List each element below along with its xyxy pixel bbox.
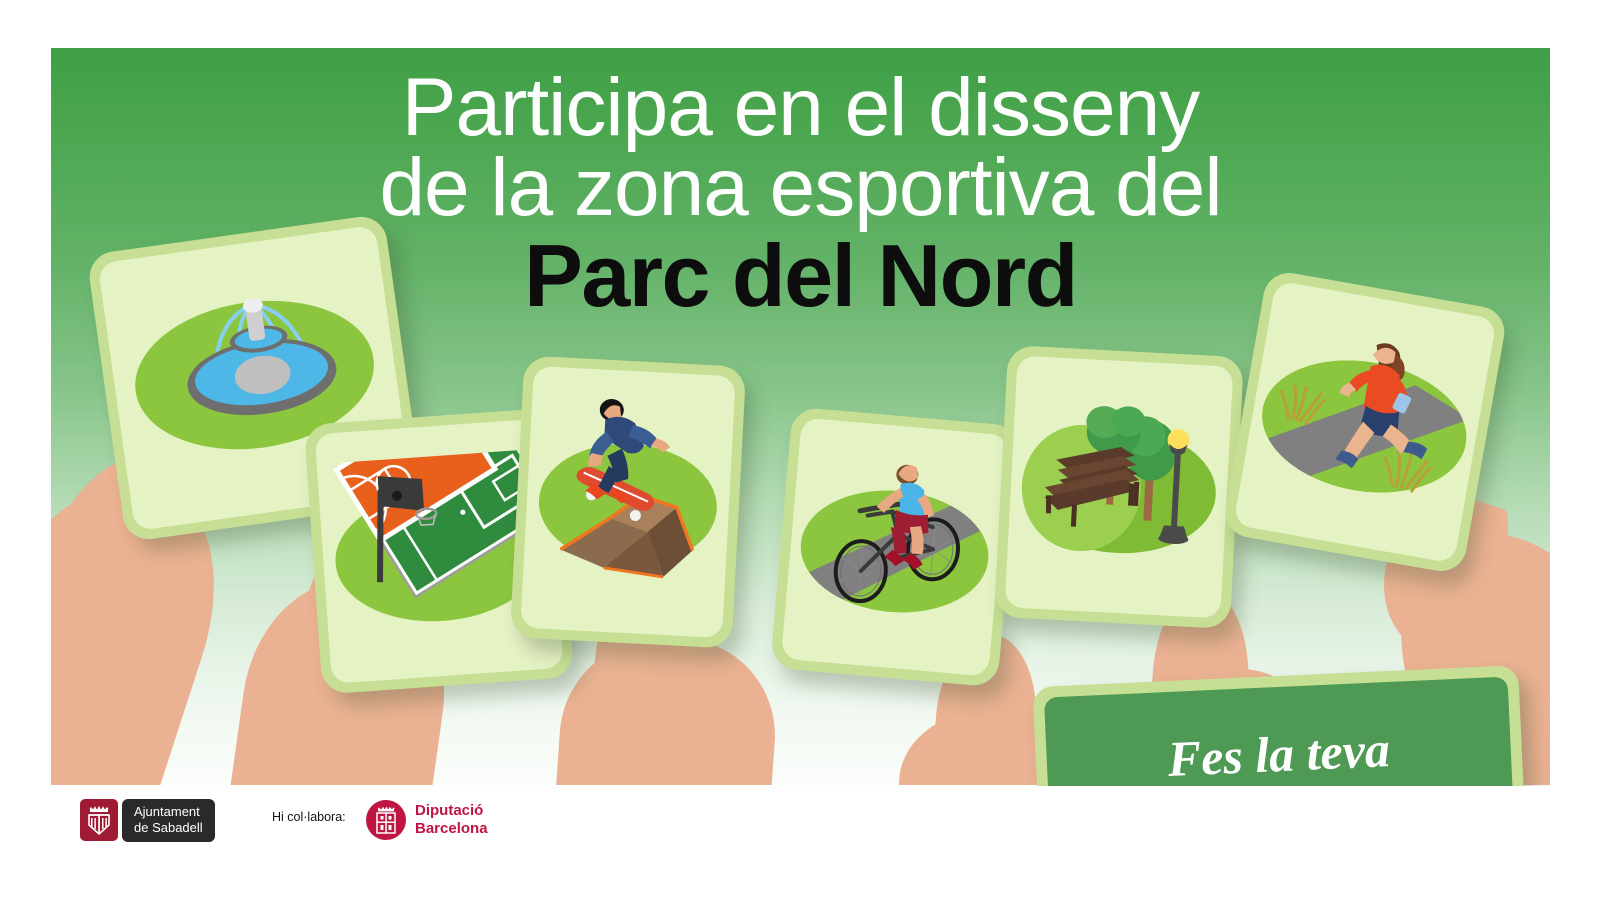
diputacio-crest-icon [366, 800, 406, 840]
logo-diputacio-barcelona[interactable]: Diputació Barcelona [366, 800, 488, 840]
card-runner[interactable] [1222, 269, 1509, 575]
card-bike-inner [781, 417, 1009, 676]
cyclist-icon [781, 417, 1009, 676]
headline-line-2: de la zona esportiva del [51, 148, 1550, 228]
footer-logos: Ajuntament de Sabadell Hi col·labora: [0, 786, 1600, 900]
runner-icon [1233, 280, 1497, 563]
sabadell-line-1: Ajuntament [134, 804, 203, 820]
skateboarder-icon [520, 366, 735, 638]
card-bench[interactable] [994, 345, 1244, 629]
diputacio-name: Diputació Barcelona [415, 802, 488, 837]
card-skate-inner [520, 366, 735, 638]
logo-ajuntament-sabadell[interactable]: Ajuntament de Sabadell [80, 799, 215, 842]
park-bench-icon [1005, 356, 1234, 619]
card-runner-inner [1233, 280, 1497, 563]
card-bench-inner [1005, 356, 1234, 619]
card-bike-path[interactable] [770, 407, 1020, 688]
sabadell-line-2: de Sabadell [134, 820, 203, 836]
sabadell-name-box: Ajuntament de Sabadell [122, 799, 215, 842]
card-skate-ramp[interactable] [510, 355, 746, 648]
sabadell-shield-icon [80, 799, 118, 841]
headline-line-1: Participa en el disseny [51, 68, 1550, 148]
diputacio-line-1: Diputació [415, 802, 483, 819]
collaborate-label: Hi col·labora: [272, 810, 346, 824]
diputacio-line-2: Barcelona [415, 820, 488, 837]
cta-line-1: Fes la teva [1166, 721, 1390, 787]
poster-stage: Participa en el disseny de la zona espor… [0, 0, 1600, 900]
